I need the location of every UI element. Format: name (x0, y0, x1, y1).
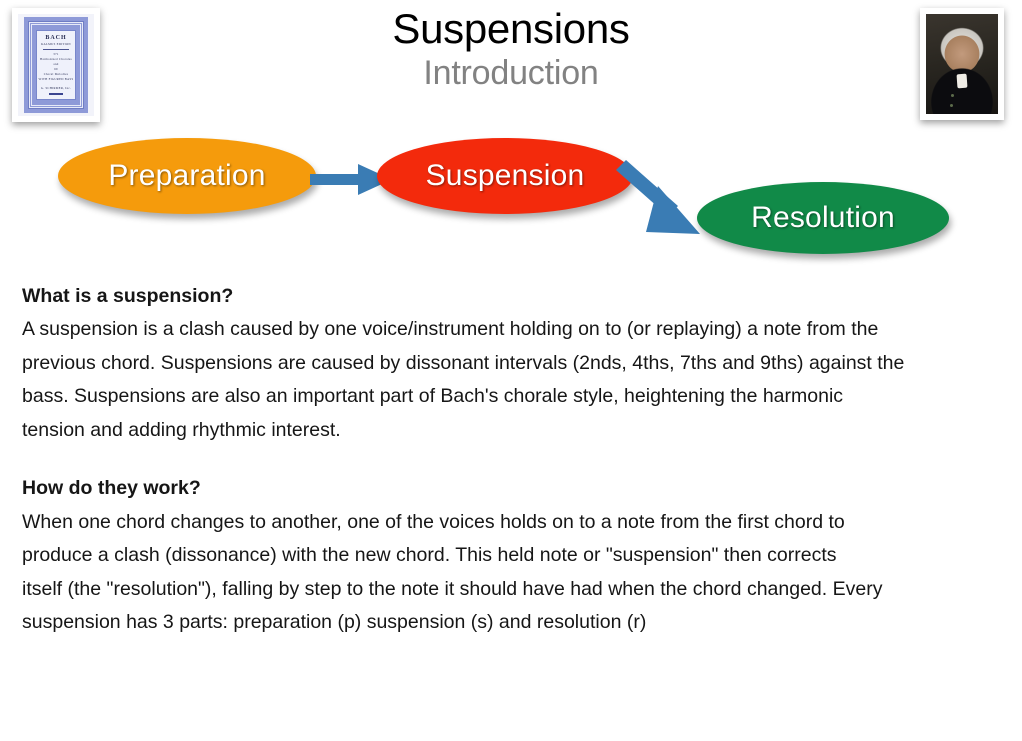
body-line: When one chord changes to another, one o… (22, 506, 1002, 540)
body-line: produce a clash (dissonance) with the ne… (22, 539, 1002, 573)
flow-node-suspension-label: Suspension (426, 159, 585, 193)
section-heading: What is a suspension? (22, 281, 1002, 311)
section-body: A suspension is a clash caused by one vo… (22, 313, 1002, 447)
section-what-is-a-suspension: What is a suspension? A suspension is a … (22, 281, 1002, 447)
flow-node-preparation[interactable]: Preparation (58, 138, 316, 214)
body-line: tension and adding rhythmic interest. (22, 414, 1002, 448)
body-content: What is a suspension? A suspension is a … (22, 281, 1002, 666)
flow-node-suspension[interactable]: Suspension (377, 138, 633, 214)
body-line: previous chord. Suspensions are caused b… (22, 347, 1002, 381)
book-publisher-bar (49, 93, 64, 95)
page-title: Suspensions (0, 6, 1022, 52)
flow-node-preparation-label: Preparation (108, 159, 265, 193)
page-subtitle: Introduction (0, 54, 1022, 93)
section-heading: How do they work? (22, 473, 1002, 503)
slide-canvas: BACH KALMUS EDITION 371 Harmonized Chora… (0, 0, 1022, 741)
body-line: A suspension is a clash caused by one vo… (22, 313, 1002, 347)
bach-coat-button (950, 104, 953, 107)
section-body: When one chord changes to another, one o… (22, 506, 1002, 640)
title-block: Suspensions Introduction (0, 6, 1022, 93)
suspension-flow-diagram: Preparation Suspension Resolution (0, 130, 1022, 270)
body-line: itself (the "resolution"), falling by st… (22, 573, 1002, 607)
section-how-do-they-work: How do they work? When one chord changes… (22, 473, 1002, 639)
body-line: bass. Suspensions are also an important … (22, 380, 1002, 414)
body-line: suspension has 3 parts: preparation (p) … (22, 606, 1002, 640)
bach-coat-button (951, 94, 954, 97)
flow-node-resolution[interactable]: Resolution (697, 182, 949, 254)
flow-node-resolution-label: Resolution (751, 201, 895, 235)
